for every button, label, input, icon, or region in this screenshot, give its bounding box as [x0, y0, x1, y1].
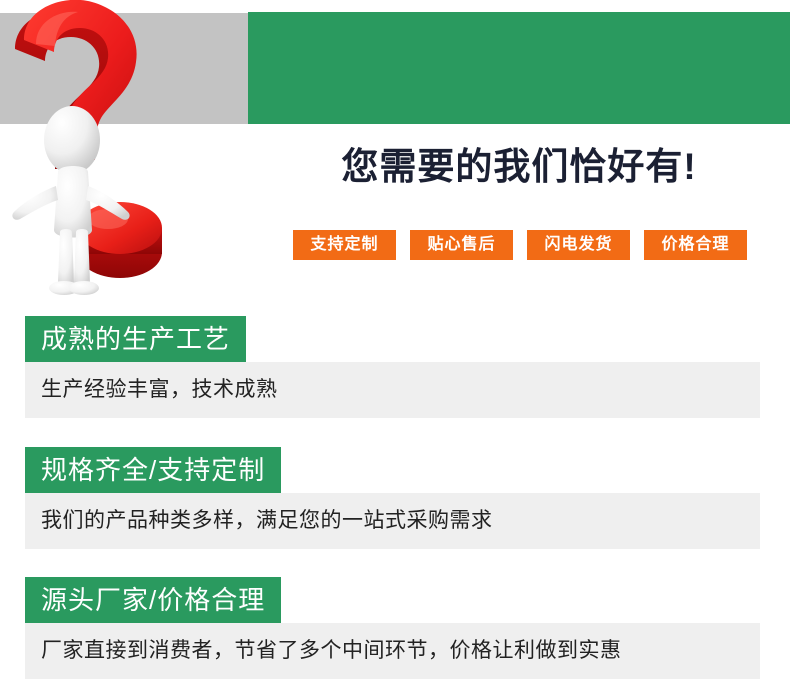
feature-body-3: 厂家直接到消费者，节省了多个中间环节，价格让利做到实惠 [25, 623, 760, 679]
feature-tag-2: 规格齐全/支持定制 [25, 447, 281, 493]
feature-block-1: 成熟的生产工艺 生产经验丰富，技术成熟 [25, 316, 760, 418]
hero-section: 为什么选择我们? 您需要的我们恰好有! 支持定制 贴心售后 闪电发货 价格合理 [0, 0, 790, 300]
feature-tag-1: 成熟的生产工艺 [25, 316, 246, 362]
feature-badge-row: 支持定制 贴心售后 闪电发货 价格合理 [293, 230, 747, 260]
question-mark-dot-icon [78, 202, 162, 278]
feature-block-3: 源头厂家/价格合理 厂家直接到消费者，节省了多个中间环节，价格让利做到实惠 [25, 577, 760, 679]
hero-subtitle: 您需要的我们恰好有! [248, 145, 790, 189]
feature-body-1: 生产经验丰富，技术成熟 [25, 362, 760, 418]
green-title-band [248, 12, 790, 124]
feature-block-2: 规格齐全/支持定制 我们的产品种类多样，满足您的一站式采购需求 [25, 447, 760, 549]
feature-body-2: 我们的产品种类多样，满足您的一站式采购需求 [25, 493, 760, 549]
feature-tag-3: 源头厂家/价格合理 [25, 577, 281, 623]
promo-banner-page: 为什么选择我们? 您需要的我们恰好有! 支持定制 贴心售后 闪电发货 价格合理 … [0, 0, 790, 684]
badge-reasonable-price[interactable]: 价格合理 [644, 230, 747, 260]
badge-fast-shipping[interactable]: 闪电发货 [527, 230, 630, 260]
badge-support-customization[interactable]: 支持定制 [293, 230, 396, 260]
gray-background-band [0, 13, 250, 124]
features-section: 成熟的生产工艺 生产经验丰富，技术成熟 规格齐全/支持定制 我们的产品种类多样，… [0, 300, 790, 684]
badge-after-sales[interactable]: 贴心售后 [410, 230, 513, 260]
